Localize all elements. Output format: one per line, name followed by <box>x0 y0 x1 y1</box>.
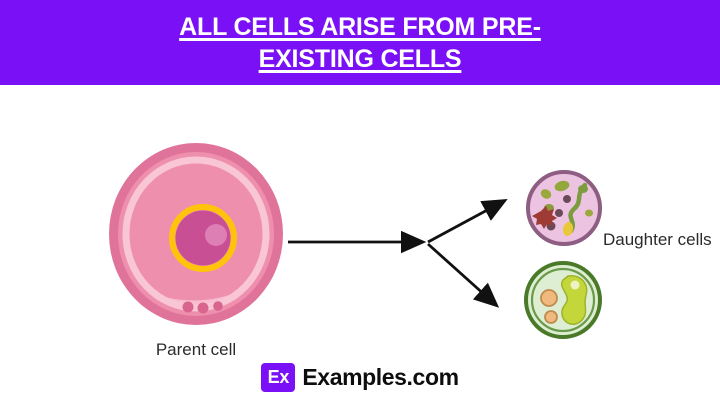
daughter-cells-label: Daughter cells <box>603 229 713 250</box>
daughter-bottom-granule <box>541 290 557 306</box>
logo-wordmark: Examples.com <box>302 364 458 391</box>
daughter-top-organelle <box>578 185 588 193</box>
parent-cell-vesicle <box>213 301 223 311</box>
daughter-cell-top <box>525 169 603 247</box>
infographic-page: ALL CELLS ARISE FROM PRE-EXISTING CELLS <box>0 0 720 404</box>
daughter-cell-bottom <box>523 260 603 340</box>
daughter-top-vacuole <box>563 195 571 203</box>
daughter-bottom-cell-wall <box>526 263 600 337</box>
brand-logo: Ex Examples.com <box>0 363 720 392</box>
division-arrows <box>288 195 538 315</box>
parent-cell-nucleolus <box>205 224 227 246</box>
daughter-bottom-granule <box>545 311 557 323</box>
division-arrow-down <box>428 244 496 305</box>
logo-mark-icon: Ex <box>261 363 295 392</box>
header-banner: ALL CELLS ARISE FROM PRE-EXISTING CELLS <box>0 0 720 85</box>
diagram-canvas: Parent cell <box>0 85 720 404</box>
page-title: ALL CELLS ARISE FROM PRE-EXISTING CELLS <box>136 11 584 75</box>
daughter-top-organelle <box>585 210 593 217</box>
parent-cell-vesicle <box>183 302 194 313</box>
parent-cell <box>108 142 284 326</box>
division-arrow-up <box>428 201 504 242</box>
daughter-bottom-nucleolus <box>571 281 580 290</box>
daughter-top-vacuole <box>555 209 563 217</box>
parent-cell-vesicle <box>198 303 209 314</box>
parent-cell-label: Parent cell <box>108 340 284 360</box>
